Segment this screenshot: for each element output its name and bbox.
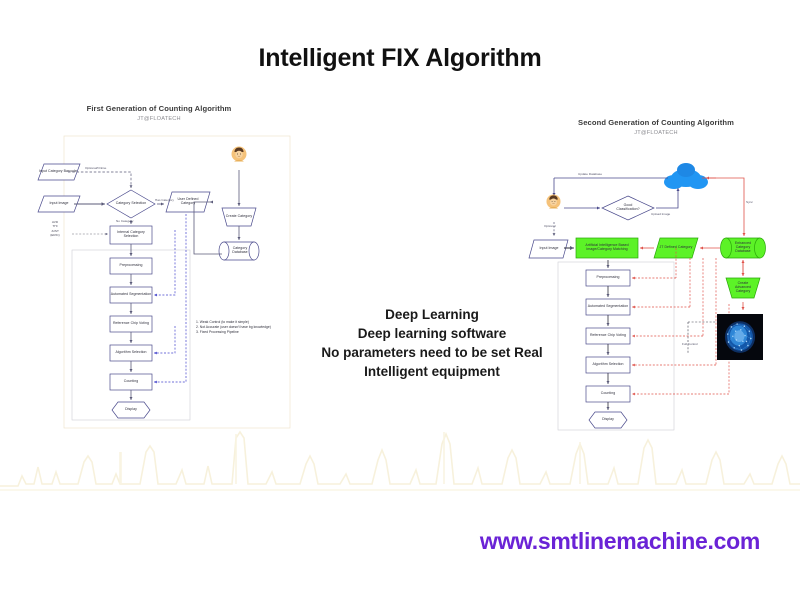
page-title: Intelligent FIX Algorithm bbox=[0, 44, 800, 73]
user-avatar-icon bbox=[546, 194, 561, 209]
cloud-shape bbox=[664, 163, 708, 189]
left-diagram-notes: 1. Weak Control (to make it simple) 2. N… bbox=[196, 320, 288, 335]
right-diagram-subtitle: JT@FLOATECH bbox=[520, 130, 792, 136]
first-generation-diagram: First Generation of Counting Algorithm J… bbox=[24, 104, 294, 434]
website-url: www.smtlinemachine.com bbox=[480, 528, 760, 555]
left-side-note: AVD THI JUST (ERIC) bbox=[42, 220, 68, 238]
second-generation-diagram: Second Generation of Counting Algorithm … bbox=[520, 118, 792, 440]
user-avatar-icon bbox=[231, 146, 247, 162]
left-diagram-title: First Generation of Counting Algorithm bbox=[24, 104, 294, 113]
neural-brain-image bbox=[716, 314, 764, 360]
left-diagram-subtitle: JT@FLOATECH bbox=[24, 116, 294, 122]
right-diagram-title: Second Generation of Counting Algorithm bbox=[520, 118, 792, 127]
